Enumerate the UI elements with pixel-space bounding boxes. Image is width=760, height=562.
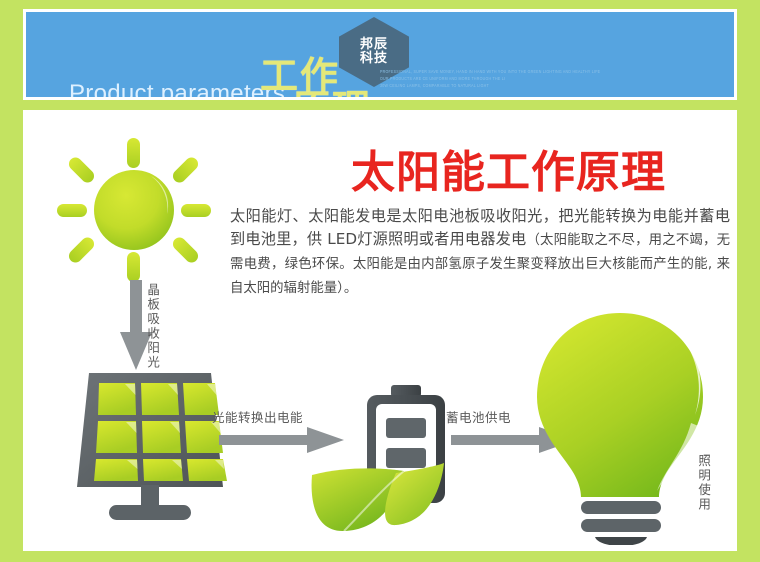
solar-panel-icon xyxy=(65,365,235,525)
label-light-to-electricity: 光能转换出电能 xyxy=(212,407,303,426)
header-banner: Product parameters 工作 原理 邦辰 科技 PROFESSIO… xyxy=(23,9,737,100)
content-panel: 太阳能工作原理 太阳能灯、太阳能发电是太阳电池板吸收阳光，把光能转换为电能并蓄电… xyxy=(23,110,737,551)
label-battery-supplies-power: 蓄电池供电 xyxy=(446,407,511,426)
light-bulb-icon xyxy=(523,305,718,545)
logo-line-1: 邦辰 xyxy=(360,38,388,52)
slogan-line-3: 30W CEILING LAMPS, COMPARABLE TO NATURAL… xyxy=(380,82,690,91)
sun-icon xyxy=(55,136,215,286)
header-cn-theory: 原理 xyxy=(292,78,372,97)
description-paragraph: 太阳能灯、太阳能发电是太阳电池板吸收阳光，把光能转换为电能并蓄电到电池里，供 L… xyxy=(230,205,730,300)
leaves-icon xyxy=(308,455,493,540)
logo-line-2: 科技 xyxy=(360,52,388,66)
label-panel-absorbs-sunlight: 晶板吸收阳光 xyxy=(146,283,159,370)
label-lighting-use: 照明使用 xyxy=(697,454,710,512)
header-english-slogan: PROFESSIONAL, SUPER SAVE MONEY, HAND IN … xyxy=(380,68,690,89)
page-title: 太阳能工作原理 xyxy=(351,136,666,200)
product-parameters-title: Product parameters xyxy=(69,80,285,97)
header-blue-panel: Product parameters 工作 原理 邦辰 科技 PROFESSIO… xyxy=(26,12,734,97)
arrow-right-icon-1 xyxy=(219,425,344,455)
page-root: Product parameters 工作 原理 邦辰 科技 PROFESSIO… xyxy=(0,0,760,562)
